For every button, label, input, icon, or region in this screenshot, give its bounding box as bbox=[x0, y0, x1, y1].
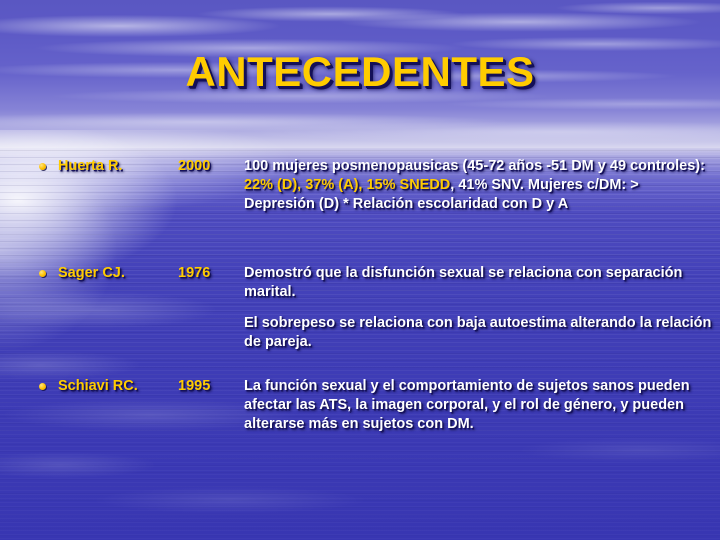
bullet-column bbox=[36, 377, 58, 390]
text-run: El sobrepeso se relaciona con baja autoe… bbox=[244, 315, 711, 350]
entry-year: 1995 bbox=[178, 377, 244, 396]
bullet-column bbox=[36, 264, 58, 277]
slide-title: ANTECEDENTES bbox=[0, 48, 720, 96]
text-run: La función sexual y el comportamiento de… bbox=[244, 378, 690, 432]
text-run: 100 mujeres posmenopausicas (45-72 años … bbox=[244, 158, 705, 174]
entry-year: 2000 bbox=[178, 157, 244, 176]
entry-author: Sager CJ. bbox=[58, 264, 178, 283]
text-run: Demostró que la disfunción sexual se rel… bbox=[244, 265, 682, 300]
entry-author: Huerta R. bbox=[58, 157, 178, 176]
presentation-slide: ANTECEDENTES Huerta R.2000100 mujeres po… bbox=[0, 0, 720, 540]
bullet-dot-icon bbox=[39, 270, 46, 277]
reference-list: Huerta R.2000100 mujeres posmenopausicas… bbox=[0, 153, 720, 540]
entry-paragraph: 100 mujeres posmenopausicas (45-72 años … bbox=[244, 157, 712, 214]
entry-paragraph: El sobrepeso se relaciona con baja autoe… bbox=[244, 314, 712, 352]
bullet-dot-icon bbox=[39, 383, 46, 390]
entry-author: Schiavi RC. bbox=[58, 377, 178, 396]
highlighted-text-run: 22% (D), 37% (A), 15% SNEDD bbox=[244, 177, 450, 193]
entry-description: La función sexual y el comportamiento de… bbox=[244, 377, 712, 434]
entry-paragraph: Demostró que la disfunción sexual se rel… bbox=[244, 264, 712, 302]
entry-description: Demostró que la disfunción sexual se rel… bbox=[244, 264, 712, 351]
entry-paragraph: La función sexual y el comportamiento de… bbox=[244, 377, 712, 434]
entry-year: 1976 bbox=[178, 264, 244, 283]
bullet-dot-icon bbox=[39, 163, 46, 170]
bullet-column bbox=[36, 157, 58, 170]
entry-description: 100 mujeres posmenopausicas (45-72 años … bbox=[244, 157, 712, 214]
reference-entry: Schiavi RC.1995La función sexual y el co… bbox=[36, 377, 712, 434]
reference-entry: Sager CJ.1976Demostró que la disfunción … bbox=[36, 264, 712, 351]
reference-entry: Huerta R.2000100 mujeres posmenopausicas… bbox=[36, 157, 712, 214]
